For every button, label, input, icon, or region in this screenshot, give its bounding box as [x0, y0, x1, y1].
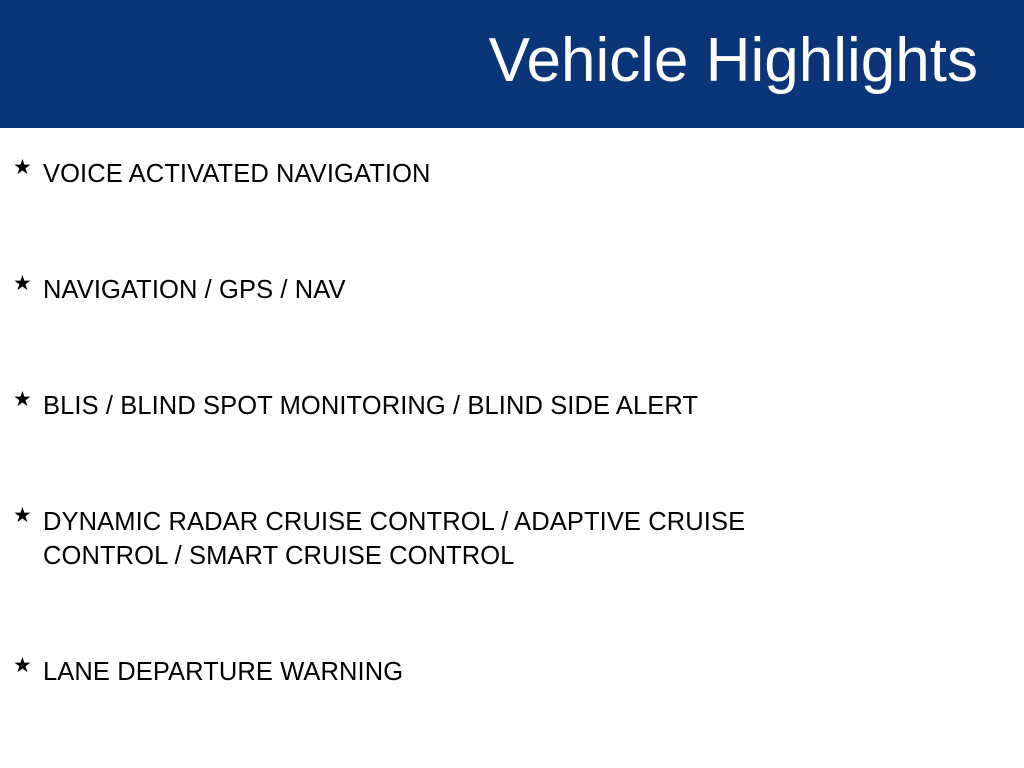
- list-item-label: BLIS / BLIND SPOT MONITORING / BLIND SID…: [43, 389, 1004, 423]
- header-bar: Vehicle Highlights: [0, 0, 1024, 128]
- page-title: Vehicle Highlights: [489, 25, 978, 96]
- list-item-label: NAVIGATION / GPS / NAV: [43, 273, 1004, 307]
- list-item-label: VOICE ACTIVATED NAVIGATION: [43, 157, 1004, 191]
- list-item: ★ DYNAMIC RADAR CRUISE CONTROL / ADAPTIV…: [0, 505, 1024, 614]
- list-item-label: DYNAMIC RADAR CRUISE CONTROL / ADAPTIVE …: [43, 505, 1004, 573]
- star-bullet-icon: ★: [13, 389, 35, 410]
- star-bullet-icon: ★: [13, 273, 35, 294]
- list-item: ★ NAVIGATION / GPS / NAV: [0, 273, 1024, 348]
- star-bullet-icon: ★: [13, 655, 35, 676]
- list-item: ★ VOICE ACTIVATED NAVIGATION: [0, 157, 1024, 232]
- list-item: ★ BLIS / BLIND SPOT MONITORING / BLIND S…: [0, 389, 1024, 464]
- star-bullet-icon: ★: [13, 505, 35, 526]
- list-item-label: LANE DEPARTURE WARNING: [43, 655, 1004, 689]
- list-item: ★ LANE DEPARTURE WARNING: [0, 655, 1024, 730]
- vehicle-highlights-list: ★ VOICE ACTIVATED NAVIGATION ★ NAVIGATIO…: [0, 128, 1024, 768]
- slide-canvas: Vehicle Highlights ★ VOICE ACTIVATED NAV…: [0, 0, 1024, 768]
- star-bullet-icon: ★: [13, 157, 35, 178]
